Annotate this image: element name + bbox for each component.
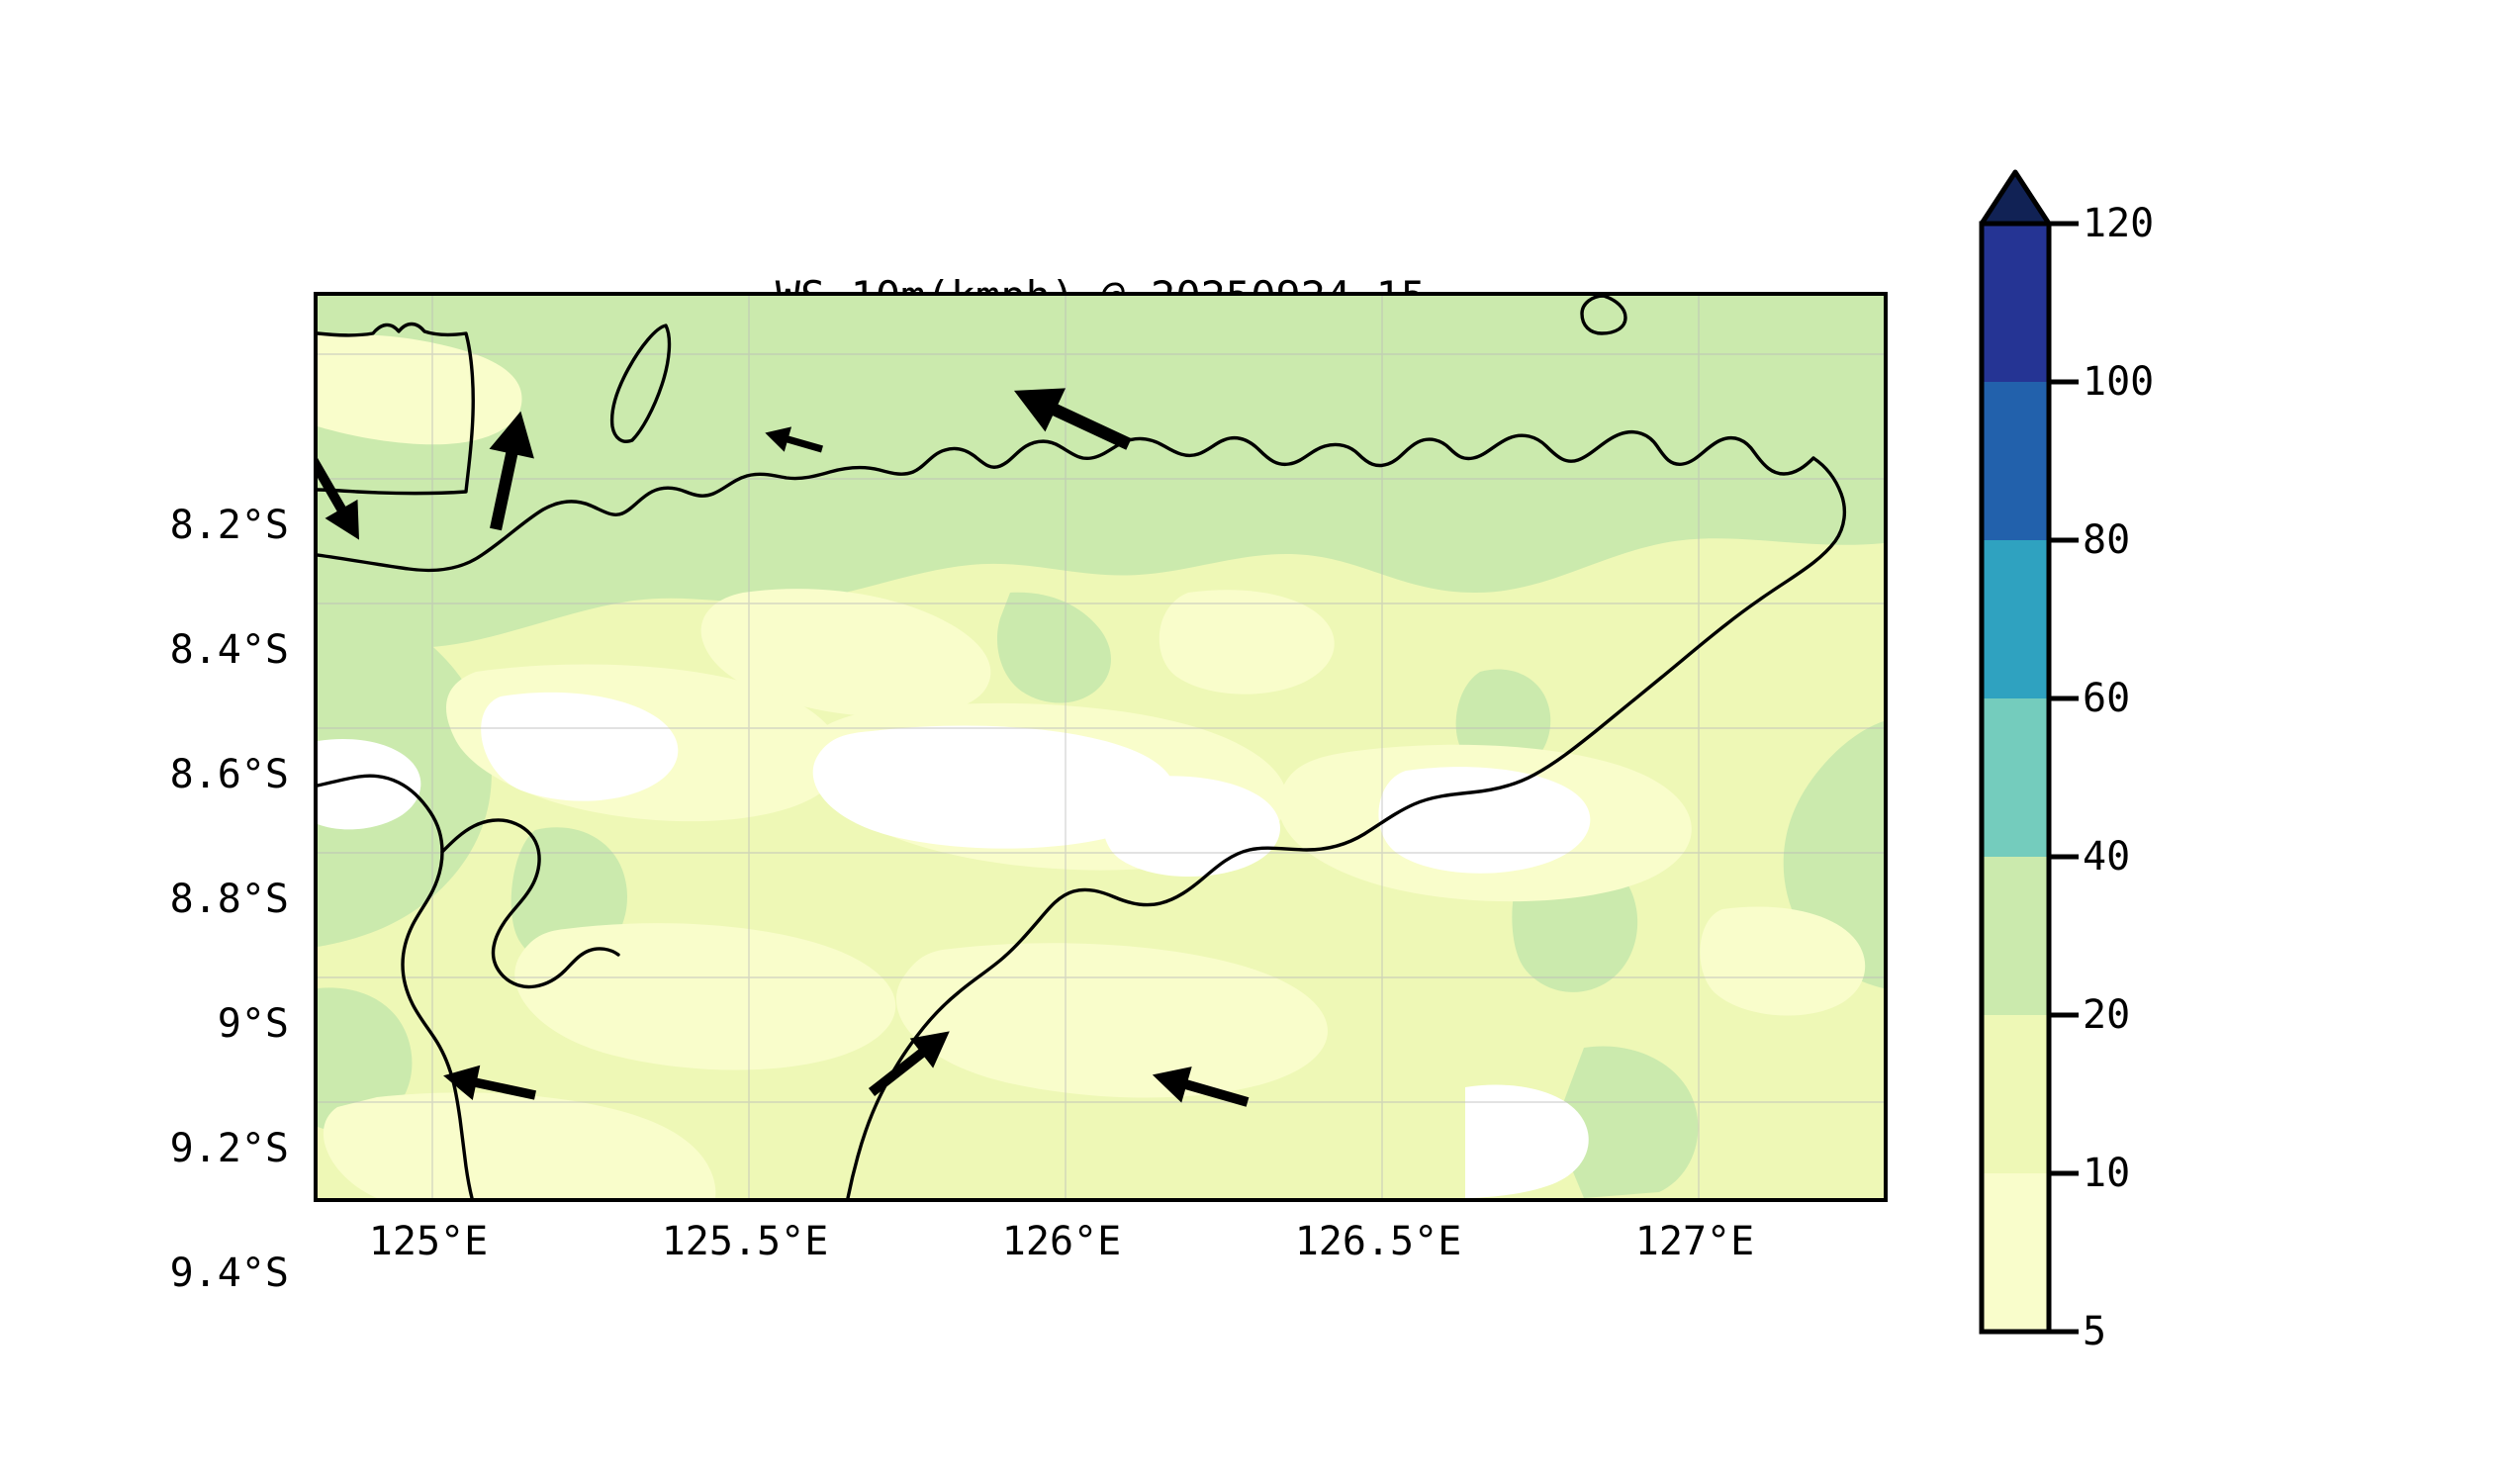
colorbar-band-5-10 xyxy=(1982,1173,2049,1332)
colorbar-tick-label: 40 xyxy=(2083,834,2130,880)
colorbar-band-100-120 xyxy=(1982,224,2049,382)
colorbar-tick-label: 10 xyxy=(2083,1151,2130,1196)
colorbar-band-40-60 xyxy=(1982,698,2049,857)
colorbar-band-20-40 xyxy=(1982,857,2049,1015)
colorbar-tick-label: 80 xyxy=(2083,517,2130,563)
colorbar[interactable] xyxy=(1980,168,2051,1336)
x-tick-label: 127°E xyxy=(1635,1219,1754,1264)
weather-map-figure: WS-10m(kmph) @ 20250924_15 Simulation Ti… xyxy=(0,0,2504,1484)
colorbar-extend-arrow xyxy=(1982,172,2049,224)
y-tick-label: 9.2°S xyxy=(12,1126,289,1171)
y-tick-label: 8.4°S xyxy=(12,627,289,673)
y-tick-label: 8.2°S xyxy=(12,503,289,548)
map-plot-area[interactable] xyxy=(314,292,1888,1202)
colorbar-tick-label: 100 xyxy=(2083,359,2154,405)
x-tick-label: 126°E xyxy=(1002,1219,1121,1264)
y-tick-label: 8.6°S xyxy=(12,752,289,797)
y-tick-label: 8.8°S xyxy=(12,877,289,922)
colorbar-tick-label: 20 xyxy=(2083,992,2130,1038)
colorbar-band-80-100 xyxy=(1982,382,2049,540)
x-tick-label: 125°E xyxy=(369,1219,488,1264)
colorbar-tick-label: 120 xyxy=(2083,201,2154,246)
colorbar-tick-label: 5 xyxy=(2083,1309,2106,1354)
colorbar-ticks xyxy=(2049,224,2079,1332)
x-tick-label: 125.5°E xyxy=(662,1219,829,1264)
y-tick-label: 9°S xyxy=(12,1001,289,1047)
colorbar-band-60-80 xyxy=(1982,540,2049,698)
map-canvas xyxy=(318,296,1884,1198)
colorbar-band-10-20 xyxy=(1982,1015,2049,1173)
x-tick-label: 126.5°E xyxy=(1295,1219,1462,1264)
colorbar-tick-label: 60 xyxy=(2083,676,2130,721)
y-tick-label: 9.4°S xyxy=(12,1251,289,1296)
colorbar-canvas xyxy=(1980,168,2051,1336)
